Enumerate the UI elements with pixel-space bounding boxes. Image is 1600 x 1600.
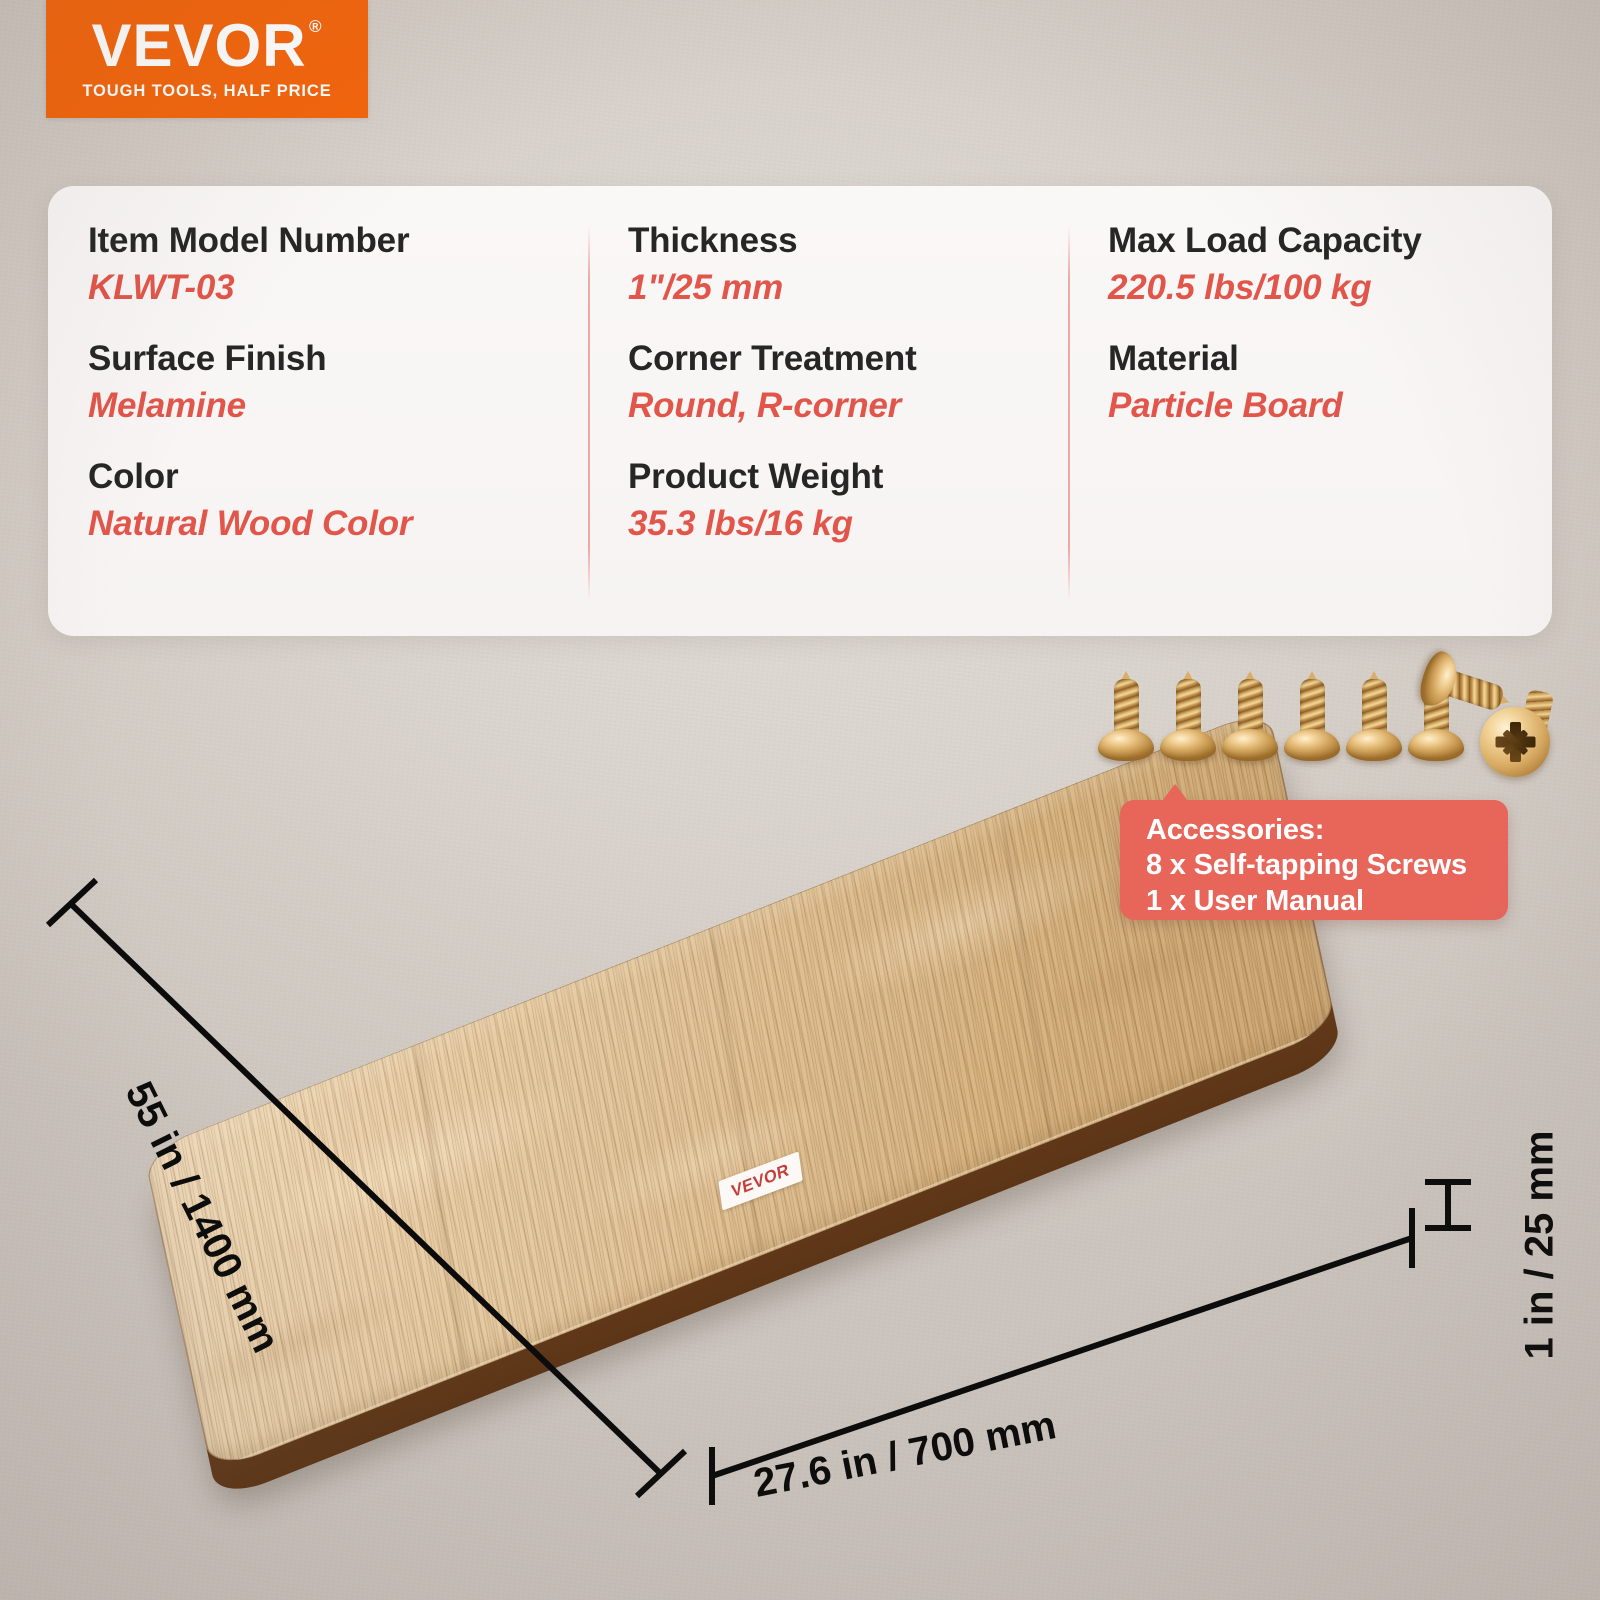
screw-icon — [1160, 679, 1216, 779]
spec-value: 1"/25 mm — [628, 267, 1028, 310]
spec-value: Melamine — [88, 385, 548, 428]
spec-row: Material Particle Board — [1108, 338, 1512, 428]
badge-pointer-icon — [1162, 784, 1188, 801]
accessories-item: 1 x User Manual — [1146, 884, 1508, 919]
spec-label: Material — [1108, 338, 1512, 379]
spec-value: Round, R-corner — [628, 385, 1028, 428]
spec-row: Product Weight 35.3 lbs/16 kg — [628, 456, 1028, 546]
logo-wordmark: VEVOR® — [91, 17, 322, 75]
dimension-label-thickness: 1 in / 25 mm — [1518, 1131, 1563, 1360]
screw-head-top-view-icon — [1480, 707, 1550, 777]
spec-value: 220.5 lbs/100 kg — [1108, 267, 1512, 310]
accessory-screws-group — [1098, 655, 1558, 805]
spec-label: Product Weight — [628, 456, 1028, 497]
spec-row: Max Load Capacity 220.5 lbs/100 kg — [1108, 220, 1512, 310]
sticker-label: VEVOR — [730, 1160, 790, 1202]
vevor-product-sticker: VEVOR — [718, 1151, 803, 1210]
dimension-line-thickness — [1425, 1182, 1471, 1228]
spec-column: Item Model Number KLWT-03 Surface Finish… — [48, 220, 588, 606]
screw-head-icon — [1284, 729, 1340, 761]
board-edge-highlight — [211, 1025, 1337, 1473]
screw-head-icon — [1160, 729, 1216, 761]
spec-row: Surface Finish Melamine — [88, 338, 548, 428]
spec-value: Natural Wood Color — [88, 503, 548, 546]
spec-label: Item Model Number — [88, 220, 548, 261]
product-infographic: VEVOR 55 in / 1400 mm 27.6 in / 700 mm 1… — [0, 0, 1600, 1600]
logo-text: VEVOR — [91, 12, 306, 79]
spec-label: Thickness — [628, 220, 1028, 261]
spec-value: KLWT-03 — [88, 267, 548, 310]
logo-tagline: TOUGH TOOLS, HALF PRICE — [82, 82, 331, 101]
accessories-heading: Accessories: — [1146, 813, 1508, 848]
spec-label: Max Load Capacity — [1108, 220, 1512, 261]
spec-row: Color Natural Wood Color — [88, 456, 548, 546]
spec-row: Item Model Number KLWT-03 — [88, 220, 548, 310]
registered-trademark-icon: ® — [309, 19, 323, 35]
accessories-badge: Accessories: 8 x Self-tapping Screws 1 x… — [1120, 800, 1508, 920]
screw-head-disc-icon — [1480, 707, 1550, 777]
screw-icon — [1346, 679, 1402, 779]
screw-icon — [1098, 679, 1154, 779]
spec-column: Thickness 1"/25 mm Corner Treatment Roun… — [588, 220, 1068, 606]
spec-value: Particle Board — [1108, 385, 1512, 428]
spec-label: Color — [88, 456, 548, 497]
screw-icon — [1284, 679, 1340, 779]
spec-label: Corner Treatment — [628, 338, 1028, 379]
spec-row: Corner Treatment Round, R-corner — [628, 338, 1028, 428]
screw-head-icon — [1346, 729, 1402, 761]
screw-icon — [1222, 679, 1278, 779]
vevor-logo: VEVOR® TOUGH TOOLS, HALF PRICE — [46, 0, 368, 118]
dimension-label-width: 27.6 in / 700 mm — [750, 1403, 1060, 1507]
spec-value: 35.3 lbs/16 kg — [628, 503, 1028, 546]
screw-head-icon — [1098, 729, 1154, 761]
specification-card: Item Model Number KLWT-03 Surface Finish… — [48, 186, 1552, 636]
spec-column: Max Load Capacity 220.5 lbs/100 kg Mater… — [1068, 220, 1552, 606]
screw-head-icon — [1222, 729, 1278, 761]
spec-label: Surface Finish — [88, 338, 548, 379]
accessories-item: 8 x Self-tapping Screws — [1146, 848, 1508, 883]
spec-row: Thickness 1"/25 mm — [628, 220, 1028, 310]
